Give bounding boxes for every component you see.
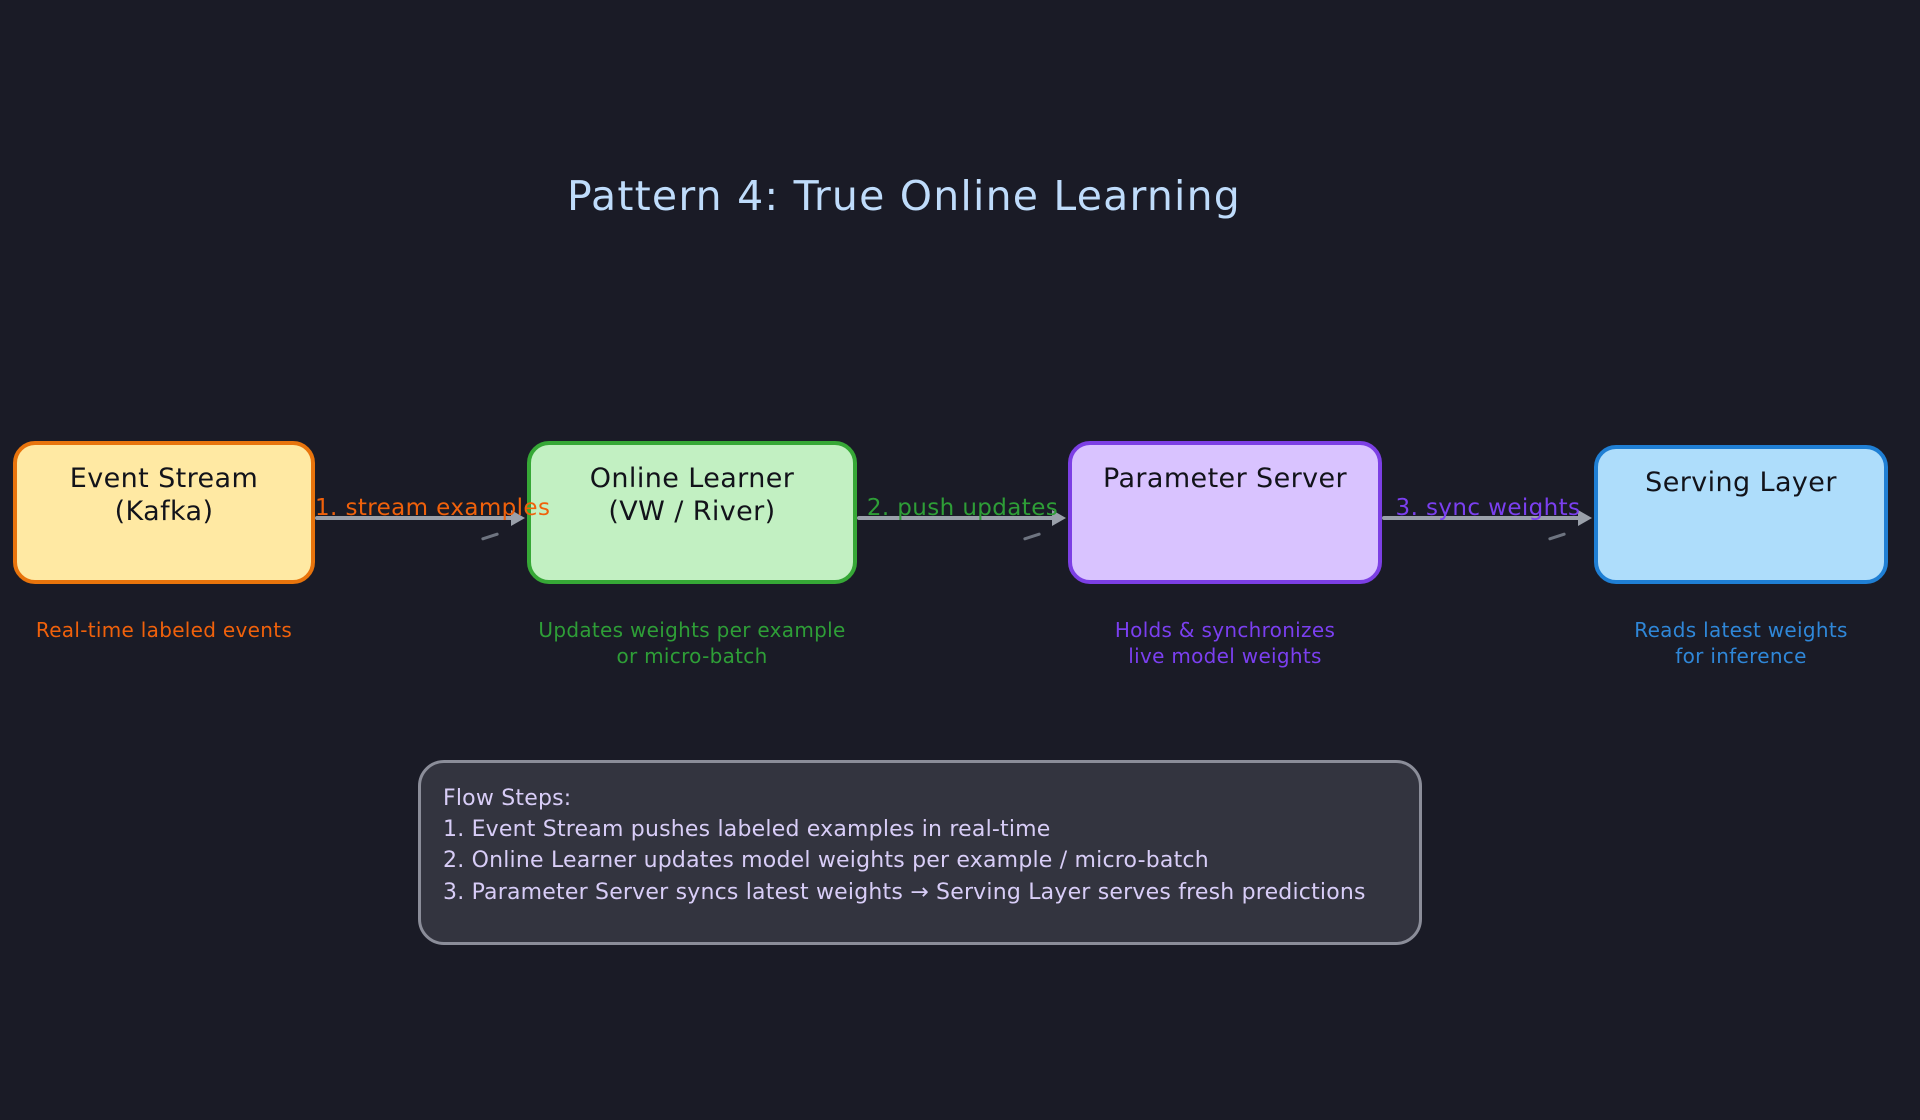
- node-event-stream[interactable]: Event Stream (Kafka): [13, 441, 315, 584]
- caption-event-stream: Real-time labeled events: [13, 617, 315, 643]
- node-event-stream-label: Event Stream (Kafka): [70, 463, 258, 529]
- edge-sync-weights: 3. sync weights: [1382, 507, 1594, 529]
- edge-label-3: 3. sync weights: [1382, 495, 1594, 521]
- node-parameter-server-label: Parameter Server: [1103, 463, 1347, 496]
- flow-steps-panel: Flow Steps: 1. Event Stream pushes label…: [418, 760, 1422, 945]
- edge-tick-mark: [481, 532, 499, 540]
- caption-online-learner: Updates weights per example or micro-bat…: [527, 617, 857, 670]
- edge-tick-mark: [1023, 532, 1041, 540]
- node-serving-layer[interactable]: Serving Layer: [1594, 445, 1888, 584]
- node-parameter-server[interactable]: Parameter Server: [1068, 441, 1382, 584]
- edge-stream-examples: 1. stream examples: [315, 507, 527, 529]
- node-online-learner[interactable]: Online Learner (VW / River): [527, 441, 857, 584]
- caption-serving-layer: Reads latest weights for inference: [1594, 617, 1888, 670]
- diagram-canvas: Pattern 4: True Online Learning Event St…: [0, 0, 1920, 1120]
- page-title: Pattern 4: True Online Learning: [0, 172, 1808, 220]
- caption-parameter-server: Holds & synchronizes live model weights: [1068, 617, 1382, 670]
- edge-label-2: 2. push updates: [857, 495, 1068, 521]
- edge-tick-mark: [1548, 532, 1566, 540]
- edge-push-updates: 2. push updates: [857, 507, 1068, 529]
- node-serving-layer-label: Serving Layer: [1645, 467, 1837, 500]
- flow-steps-text: Flow Steps: 1. Event Stream pushes label…: [443, 783, 1397, 908]
- edge-label-1: 1. stream examples: [315, 495, 527, 521]
- node-online-learner-label: Online Learner (VW / River): [590, 463, 794, 529]
